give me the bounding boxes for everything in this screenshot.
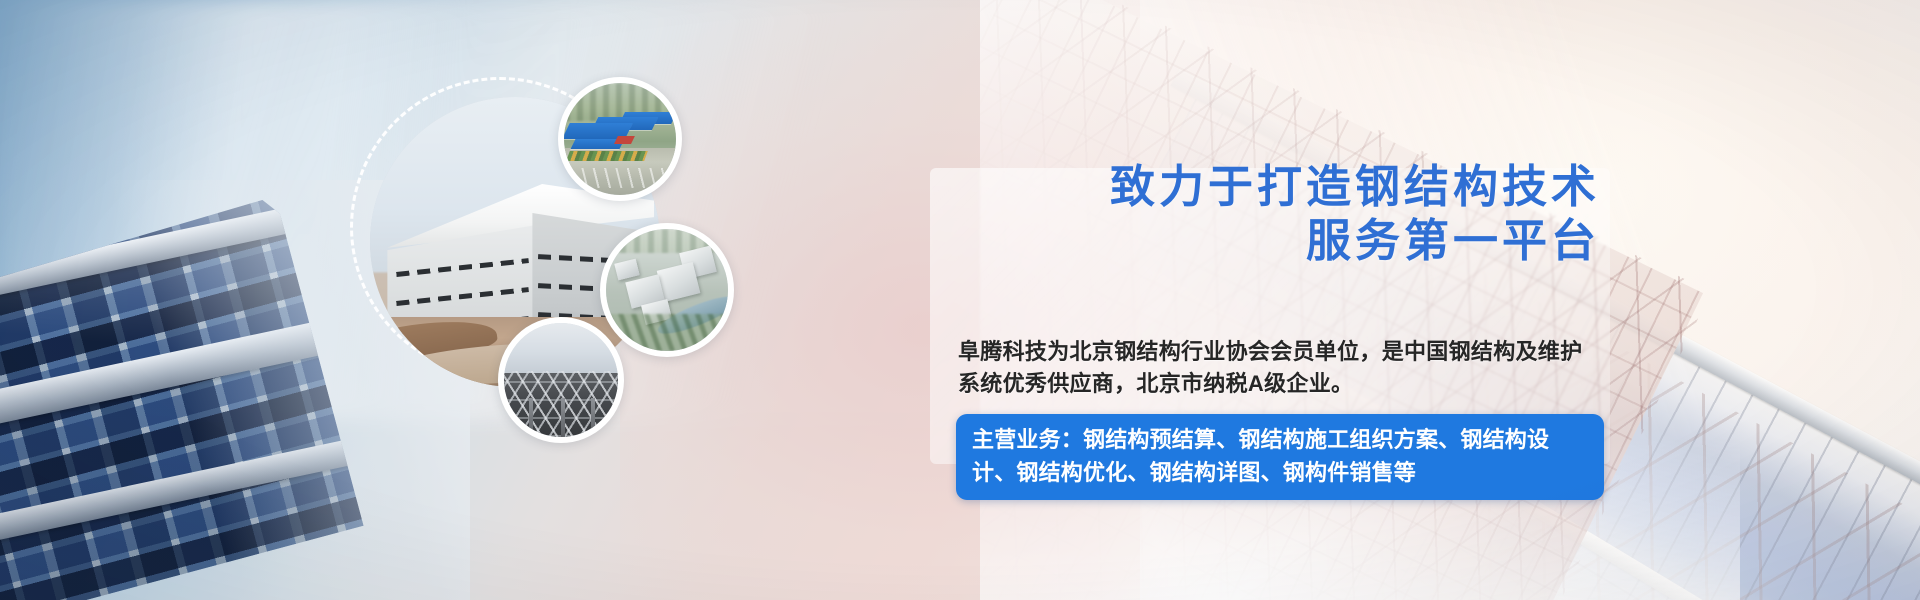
banner-headline: 致力于打造钢结构技术 服务第一平台 [930,160,1620,268]
collage-thumb-factory-aerial [558,77,682,201]
banner-description: 阜腾科技为北京钢结构行业协会会员单位，是中国钢结构及维护系统优秀供应商，北京市纳… [958,336,1598,400]
business-scope-badge: 主营业务：钢结构预结算、钢结构施工组织方案、钢结构设计、钢结构优化、钢结构详图、… [956,414,1604,500]
collage-thumb-office-campus [600,223,734,357]
collage-thumb-steel-truss [498,317,624,443]
hero-banner: 致力于打造钢结构技术 服务第一平台 阜腾科技为北京钢结构行业协会会员单位，是中国… [0,0,1920,600]
photo-collage [350,55,770,475]
